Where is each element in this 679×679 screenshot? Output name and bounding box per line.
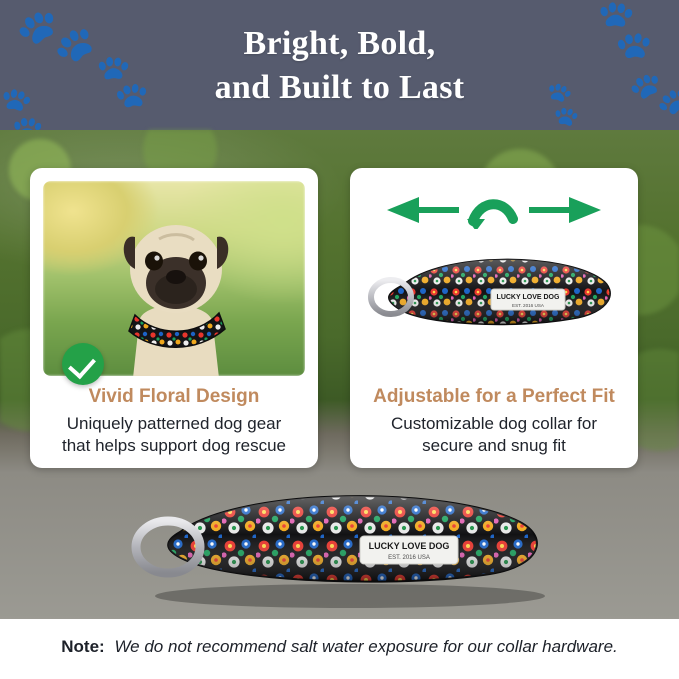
product-infographic: 🐾 🐾 🐾 🐾 🐾 🐾 Bright, Bold, and Built to L… [0,0,679,679]
brand-tag: LUCKY LOVE DOG EST. 2016 USA [491,289,565,310]
svg-text:LUCKY LOVE DOG: LUCKY LOVE DOG [497,294,560,301]
page-title: Bright, Bold, and Built to Last [0,22,679,109]
feature-card-adjustable-perfect-fit: LUCKY LOVE DOG EST. 2016 USA Adjustable … [350,168,638,468]
brand-tag: LUCKY LOVE DOG EST. 2016 USA [360,536,458,564]
card-body: Uniquely patterned dog gear that helps s… [44,413,304,458]
page-title-line1: Bright, Bold, [0,22,679,66]
note-text: We do not recommend salt water exposure … [114,637,617,656]
header-banner: 🐾 🐾 🐾 🐾 🐾 🐾 Bright, Bold, and Built to L… [0,0,679,142]
svg-text:EST. 2016 USA: EST. 2016 USA [388,555,430,561]
adjust-arrows-icon [363,189,625,229]
note-label: Note: [61,637,104,656]
card-heading: Vivid Floral Design [30,386,318,408]
svg-text:EST. 2016 USA: EST. 2016 USA [512,303,545,308]
collar-diagram: LUCKY LOVE DOG EST. 2016 USA [363,181,625,376]
card-body-line2: secure and snug fit [364,435,624,457]
card-body-line2: that helps support dog rescue [44,435,304,457]
pug-illustration [101,203,251,376]
card-body: Customizable dog collar for secure and s… [364,413,624,458]
footer-note: Note: We do not recommend salt water exp… [0,619,679,679]
svg-text:LUCKY LOVE DOG: LUCKY LOVE DOG [369,541,450,551]
page-title-line2: and Built to Last [0,66,679,110]
feature-cards: Vivid Floral Design Uniquely patterned d… [0,160,679,480]
card-heading: Adjustable for a Perfect Fit [350,386,638,408]
card-body-line1: Uniquely patterned dog gear [44,413,304,435]
collar-illustration: LUCKY LOVE DOG EST. 2016 USA [363,243,625,363]
card-body-line1: Customizable dog collar for [364,413,624,435]
check-circle-icon [62,343,104,385]
hero-collar-image: LUCKY LOVE DOG EST. 2016 USA [120,470,570,610]
feature-card-vivid-floral-design: Vivid Floral Design Uniquely patterned d… [30,168,318,468]
